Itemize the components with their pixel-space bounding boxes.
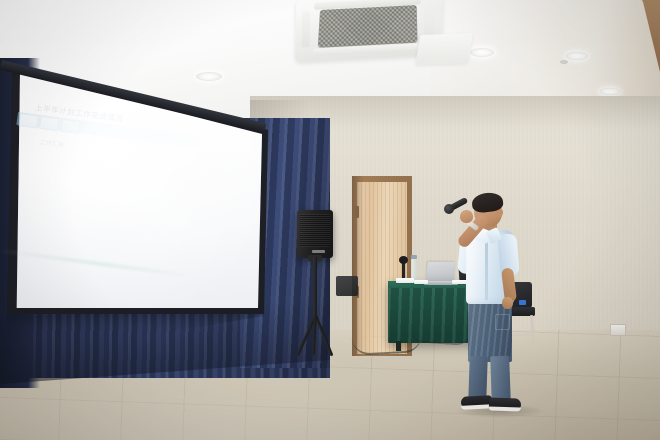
jeans-pocket — [495, 314, 510, 330]
hand-left — [460, 210, 473, 223]
shoe-sole — [489, 406, 521, 411]
wall-power-outlet — [610, 324, 626, 336]
laptop-screen — [426, 262, 456, 282]
smoke-detector-icon — [560, 60, 568, 64]
door-shadow — [352, 176, 364, 356]
door-hinge-icon — [355, 206, 359, 218]
shoe-sole — [461, 404, 492, 410]
speaker-stand-pole — [313, 257, 317, 319]
downlight-icon — [566, 52, 588, 60]
bottle-cap — [411, 255, 417, 259]
downlight-icon — [600, 88, 620, 95]
screen-light-wash — [16, 72, 262, 308]
black-chair-secondary — [336, 276, 358, 296]
speaker-grille-icon — [300, 214, 330, 247]
hand-right — [502, 297, 513, 309]
ac-grille-icon — [318, 5, 418, 48]
ac-vent-icon — [302, 11, 311, 47]
desk-microphone-icon — [399, 256, 408, 264]
speaker-logo — [312, 250, 325, 253]
paper-sheet — [396, 278, 414, 283]
ceiling-access-panel — [415, 33, 473, 65]
downlight-icon — [470, 48, 494, 57]
presentation-room-photo: 上半年计划工作完成情况 工作汇报 — [0, 0, 660, 440]
shirt-placket — [485, 238, 488, 300]
presenter — [455, 196, 535, 412]
microphone-head-icon — [444, 204, 454, 214]
jeans-texture — [468, 300, 512, 362]
paper-sheet — [414, 280, 428, 284]
